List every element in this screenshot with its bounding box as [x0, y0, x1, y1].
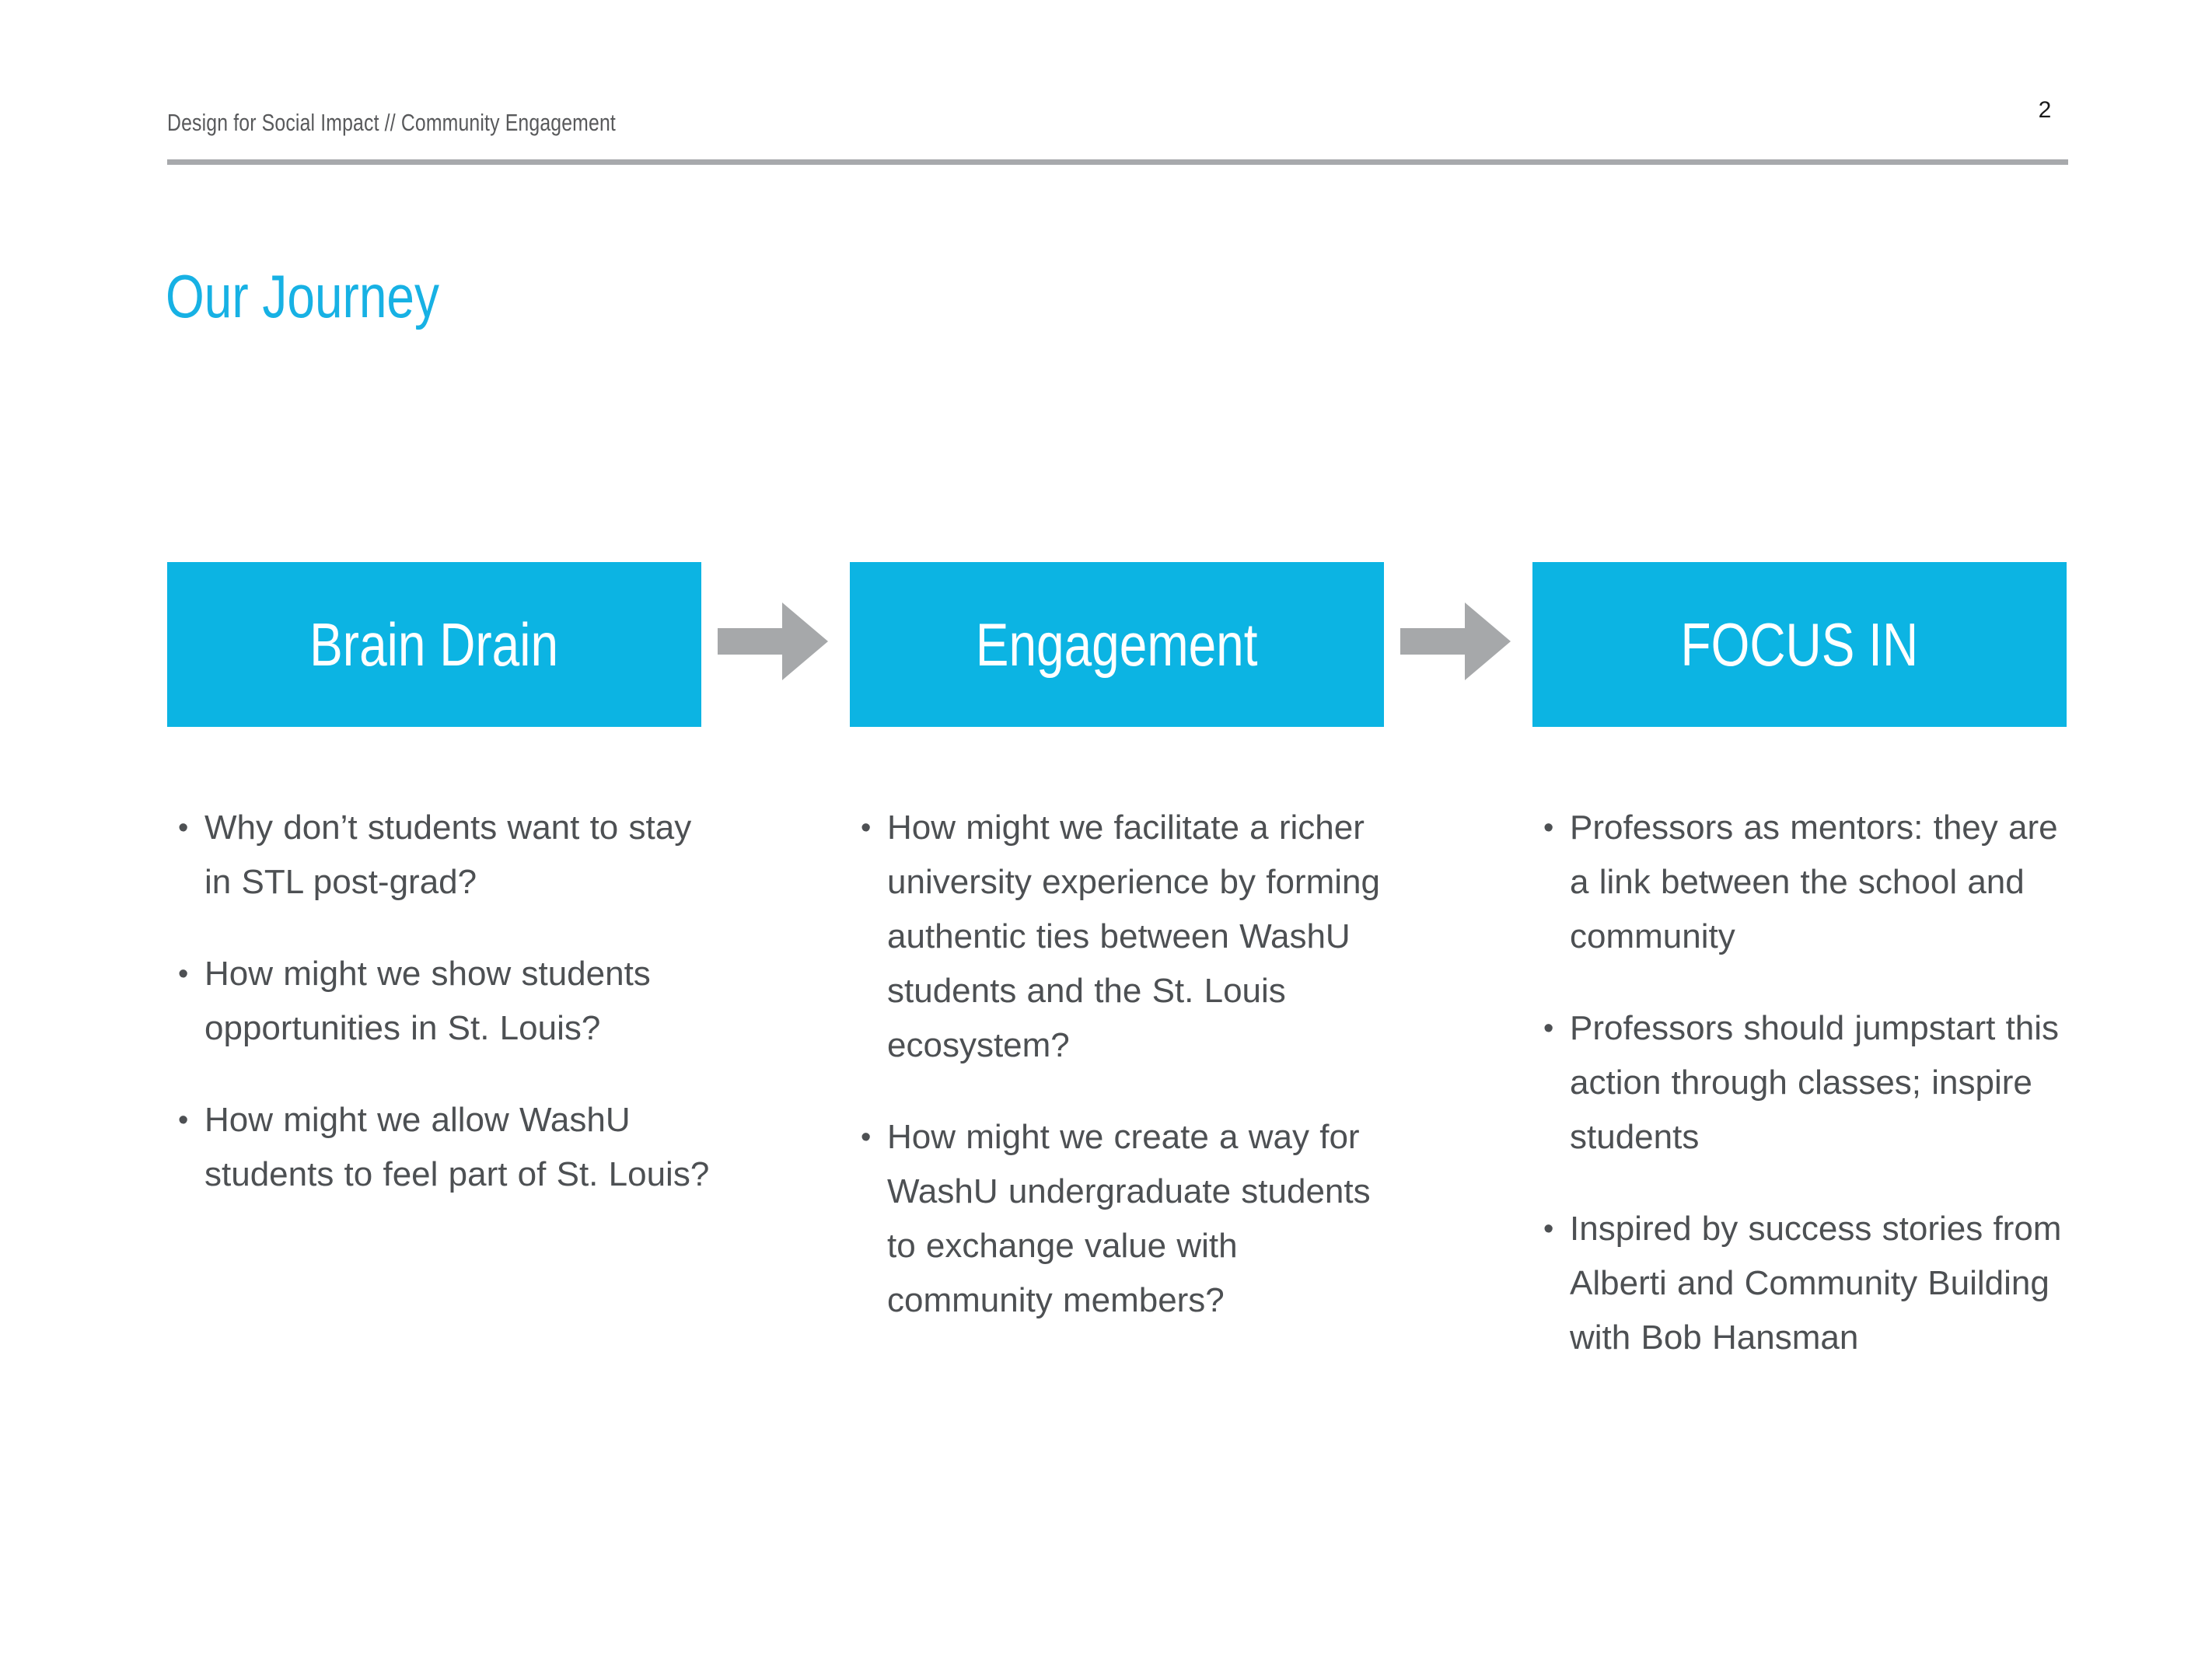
list-item-text: Inspired by success stories from Alberti…	[1570, 1202, 2077, 1365]
flow-stage-label: Engagement	[976, 609, 1258, 679]
bullet-point-icon: •	[1532, 1202, 1570, 1256]
list-item: • How might we facilitate a richer unive…	[850, 801, 1394, 1073]
journey-detail-columns: • Why don’t students want to stay in STL…	[167, 801, 2067, 1500]
page-title: Our Journey	[166, 260, 439, 332]
list-item: • How might we show students opportuniti…	[167, 947, 711, 1056]
bullet-point-icon: •	[167, 801, 204, 855]
bullet-point-icon: •	[1532, 801, 1570, 855]
list-item: • How might we allow WashU students to f…	[167, 1093, 711, 1202]
flow-stage-label: FOCUS IN	[1681, 609, 1919, 679]
page-number: 2	[2022, 96, 2068, 124]
list-item-text: How might we facilitate a richer univers…	[887, 801, 1394, 1073]
arrow-right-icon	[718, 602, 828, 680]
journey-flow-diagram: Brain Drain Engagement FOCUS IN	[167, 562, 2067, 727]
bullet-column-brain-drain: • Why don’t students want to stay in STL…	[167, 801, 711, 1239]
list-item: • How might we create a way for WashU un…	[850, 1110, 1394, 1328]
list-item: • Inspired by success stories from Alber…	[1532, 1202, 2077, 1365]
slide-canvas: Design for Social Impact // Community En…	[0, 0, 2212, 1659]
arrow-right-icon	[1400, 602, 1511, 680]
bullet-column-focus-in: • Professors as mentors: they are a link…	[1532, 801, 2077, 1402]
list-item: • Why don’t students want to stay in STL…	[167, 801, 711, 910]
bullet-point-icon: •	[850, 801, 887, 855]
list-item-text: How might we create a way for WashU unde…	[887, 1110, 1394, 1328]
list-item-text: Professors should jumpstart this action …	[1570, 1001, 2077, 1165]
bullet-point-icon: •	[167, 1093, 204, 1147]
flow-stage-label: Brain Drain	[310, 609, 559, 679]
bullet-point-icon: •	[850, 1110, 887, 1165]
list-item: • Professors as mentors: they are a link…	[1532, 801, 2077, 964]
list-item-text: Professors as mentors: they are a link b…	[1570, 801, 2077, 964]
list-item-text: How might we allow WashU students to fee…	[204, 1093, 711, 1202]
list-item-text: How might we show students opportunities…	[204, 947, 711, 1056]
list-item-text: Why don’t students want to stay in STL p…	[204, 801, 711, 910]
slide-header: Design for Social Impact // Community En…	[167, 109, 2068, 163]
bullet-column-engagement: • How might we facilitate a richer unive…	[850, 801, 1394, 1365]
breadcrumb: Design for Social Impact // Community En…	[167, 109, 616, 137]
flow-stage-focus-in[interactable]: FOCUS IN	[1532, 562, 2067, 727]
flow-stage-brain-drain[interactable]: Brain Drain	[167, 562, 701, 727]
bullet-point-icon: •	[167, 947, 204, 1001]
flow-stage-engagement[interactable]: Engagement	[850, 562, 1384, 727]
header-divider	[167, 159, 2068, 165]
bullet-point-icon: •	[1532, 1001, 1570, 1056]
list-item: • Professors should jumpstart this actio…	[1532, 1001, 2077, 1165]
